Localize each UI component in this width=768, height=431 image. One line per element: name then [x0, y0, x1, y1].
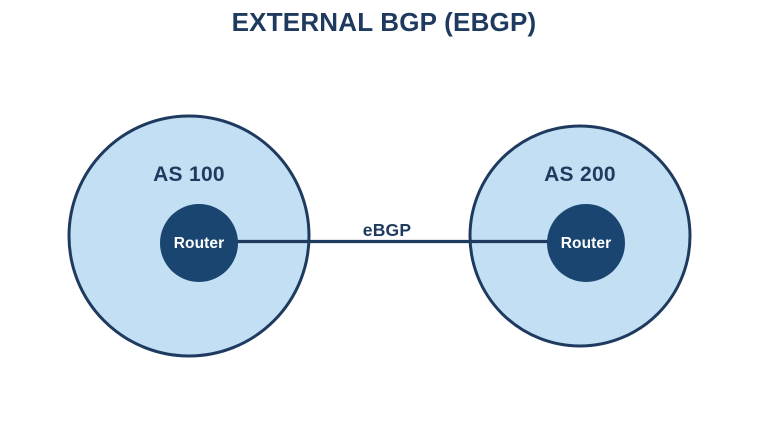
- router-node-right[interactable]: Router: [547, 204, 625, 282]
- router-label-left: Router: [174, 235, 225, 252]
- diagram-canvas: EXTERNAL BGP (EBGP) AS 100 AS 200 Router…: [0, 0, 768, 431]
- as-label-left: AS 100: [153, 163, 225, 186]
- router-label-right: Router: [561, 235, 612, 252]
- as-label-right: AS 200: [544, 163, 616, 186]
- topology-svg: AS 100 AS 200 Router Router eBGP: [0, 0, 768, 431]
- router-node-left[interactable]: Router: [160, 204, 238, 282]
- ebgp-link-label: eBGP: [363, 220, 412, 240]
